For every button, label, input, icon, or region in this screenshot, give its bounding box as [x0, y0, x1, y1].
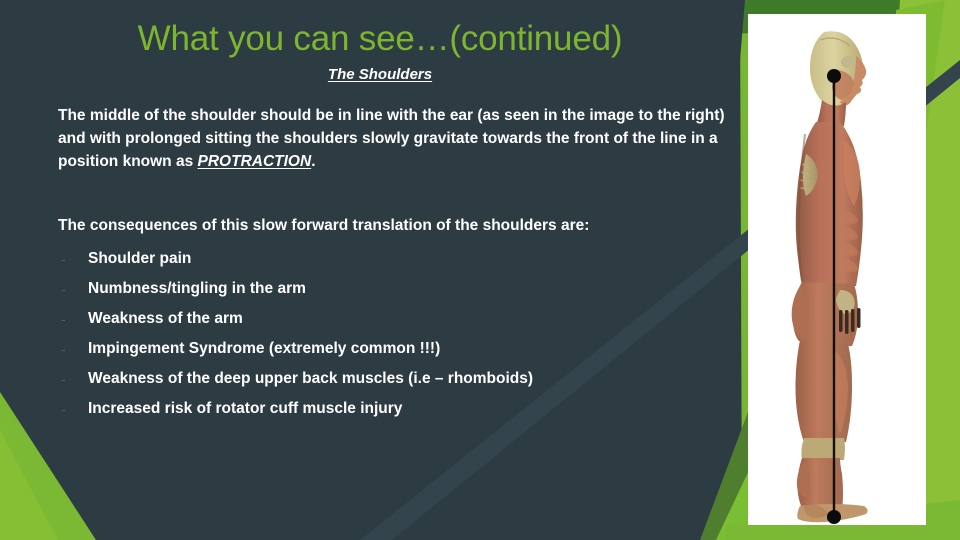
- anatomy-figure-image: [748, 14, 926, 525]
- plumb-point-ankle: [827, 510, 841, 524]
- list-item: - Numbness/tingling in the arm: [58, 274, 718, 304]
- page-title: What you can see…(continued): [40, 18, 720, 60]
- intro-paragraph-text-tail: .: [311, 153, 315, 170]
- list-item-label: Impingement Syndrome (extremely common !…: [88, 340, 440, 357]
- plumb-point-ear: [827, 69, 841, 83]
- anatomy-image-panel: [748, 14, 926, 525]
- list-item: - Weakness of the arm: [58, 304, 718, 334]
- presentation-slide: What you can see…(continued) The Shoulde…: [0, 0, 960, 540]
- dash-bullet-icon: -: [61, 394, 69, 424]
- list-item-label: Weakness of the deep upper back muscles …: [88, 370, 533, 387]
- slide-subtitle: The Shoulders: [40, 66, 720, 83]
- intro-paragraph-text-lead: The middle of the shoulder should be in …: [58, 107, 725, 170]
- protraction-emphasis: PROTRACTION: [198, 153, 312, 170]
- figure-knee: [801, 438, 845, 460]
- list-item: - Weakness of the deep upper back muscle…: [58, 364, 718, 394]
- consequences-list: - Shoulder pain - Numbness/tingling in t…: [58, 244, 718, 424]
- list-item-label: Numbness/tingling in the arm: [88, 280, 306, 297]
- dash-bullet-icon: -: [61, 364, 69, 394]
- consequences-lead-text: The consequences of this slow forward tr…: [58, 214, 589, 237]
- figure-torso: [796, 122, 863, 286]
- title-block: What you can see…(continued) The Shoulde…: [40, 18, 720, 83]
- dash-bullet-icon: -: [61, 274, 69, 304]
- list-item-label: Increased risk of rotator cuff muscle in…: [88, 400, 402, 417]
- list-item-label: Shoulder pain: [88, 250, 191, 267]
- figure-pelvis: [792, 282, 861, 348]
- list-item: - Increased risk of rotator cuff muscle …: [58, 394, 718, 424]
- body-content: The middle of the shoulder should be in …: [58, 104, 730, 173]
- list-item: - Impingement Syndrome (extremely common…: [58, 334, 718, 364]
- dash-bullet-icon: -: [61, 244, 69, 274]
- list-item-label: Weakness of the arm: [88, 310, 243, 327]
- list-item: - Shoulder pain: [58, 244, 718, 274]
- intro-paragraph: The middle of the shoulder should be in …: [58, 104, 730, 173]
- dash-bullet-icon: -: [61, 334, 69, 364]
- dash-bullet-icon: -: [61, 304, 69, 334]
